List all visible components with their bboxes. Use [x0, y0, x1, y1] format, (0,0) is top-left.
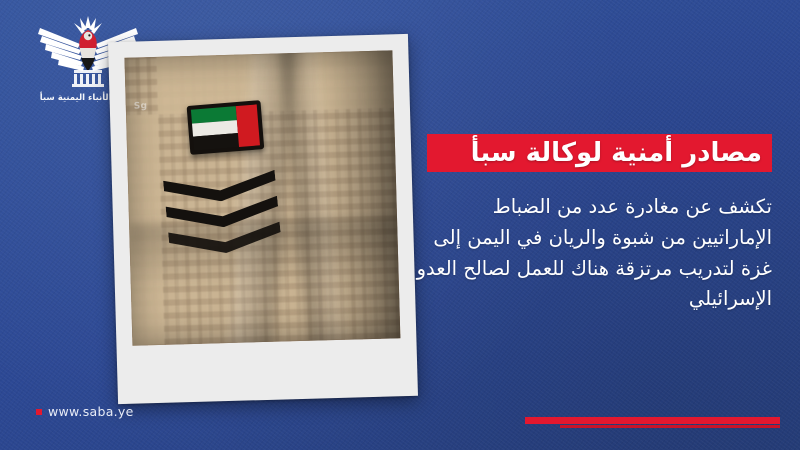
uae-flag-patch-icon: [187, 100, 265, 155]
news-graphic-card: وكالة الأنباء اليمنية سبأ: [0, 0, 800, 450]
photo-watermark: Sg: [134, 101, 148, 111]
photo-edge-shadow: [322, 50, 400, 345]
chevron-rank-insignia-icon: [163, 170, 283, 267]
news-photo: Sg: [124, 50, 400, 345]
article-summary: تكشف عن مغادرة عدد من الضباط الإماراتيين…: [412, 192, 772, 315]
website-url-label: www.saba.ye: [48, 404, 134, 419]
bullet-square-icon: [36, 409, 42, 415]
photo-image: Sg: [124, 50, 400, 345]
website-url[interactable]: www.saba.ye: [36, 404, 134, 419]
footer-accent-bar-thick: [525, 417, 780, 424]
polaroid-photo-frame: Sg: [108, 34, 418, 404]
footer-accent-bar-thin: [560, 425, 780, 428]
headline-title: مصادر أمنية لوكالة سبأ: [471, 140, 762, 166]
headline-banner: مصادر أمنية لوكالة سبأ: [427, 134, 772, 172]
